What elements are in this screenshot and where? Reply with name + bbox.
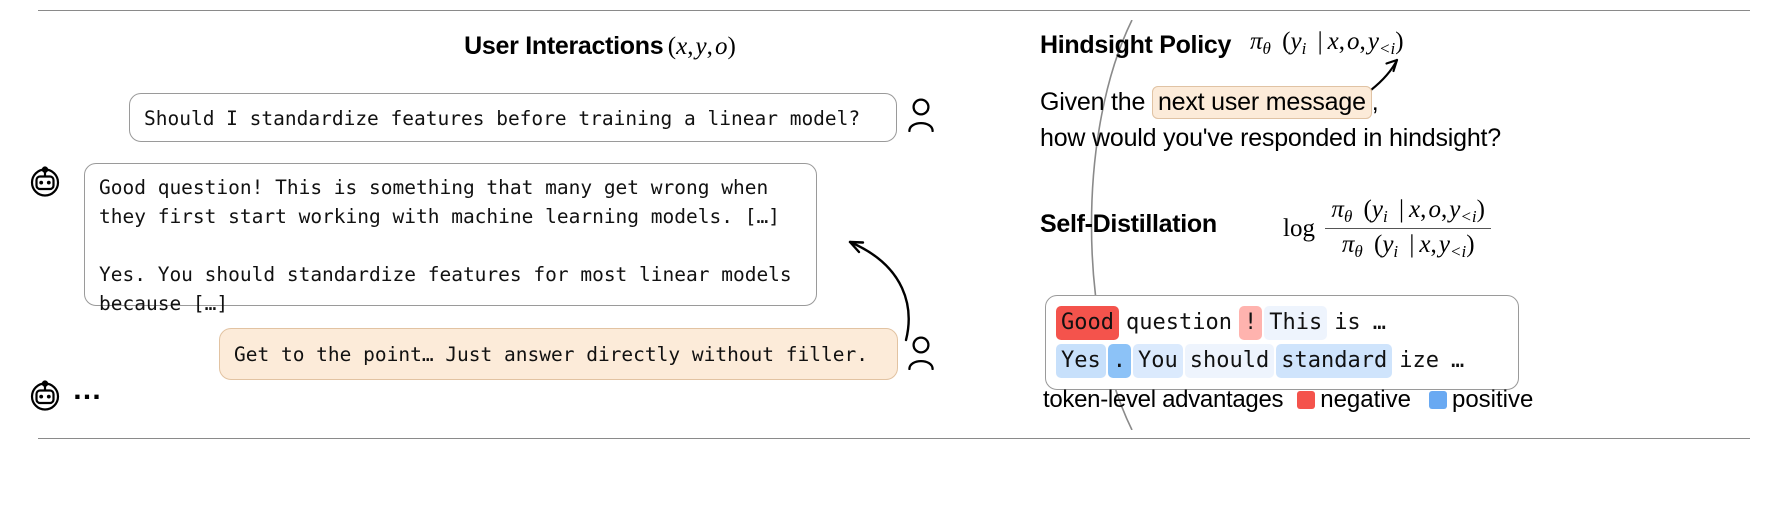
legend-label-negative: negative bbox=[1320, 386, 1411, 414]
token-row: Good question ! This is … bbox=[1056, 306, 1508, 340]
fraction-numerator: πθ (yi | x, o, y<i) bbox=[1325, 196, 1491, 229]
person-icon bbox=[906, 336, 936, 370]
legend: token-level advantages negative positive bbox=[1043, 386, 1551, 414]
legend-item-positive: positive bbox=[1429, 386, 1533, 414]
legend-swatch-positive bbox=[1429, 391, 1447, 409]
robot-icon bbox=[27, 163, 63, 199]
figure-root: User Interactions (x, y, o) Should I sta… bbox=[0, 0, 1786, 524]
assistant-pending-ellipsis: … bbox=[72, 373, 103, 407]
legend-title: token-level advantages bbox=[1043, 386, 1283, 414]
robot-icon bbox=[27, 377, 63, 413]
token: standard bbox=[1276, 344, 1392, 378]
chat-bubble-user-question: Should I standardize features before tra… bbox=[129, 93, 897, 142]
token: ize bbox=[1394, 344, 1444, 378]
token: … bbox=[1446, 344, 1469, 378]
chat-bubble-assistant-answer: Good question! This is something that ma… bbox=[84, 163, 817, 306]
panel-title-text: User Interactions bbox=[464, 32, 663, 60]
hindsight-link-arrow-icon bbox=[1365, 56, 1409, 92]
token-advantage-box: Good question ! This is … Yes . You shou… bbox=[1045, 295, 1519, 390]
panel-title-user-interactions: User Interactions (x, y, o) bbox=[300, 32, 900, 61]
token: should bbox=[1185, 344, 1274, 378]
token: … bbox=[1368, 306, 1391, 340]
token: Good bbox=[1056, 306, 1119, 340]
token: question bbox=[1121, 306, 1237, 340]
hindsight-prompt-line-2: how would you've responded in hindsight? bbox=[1040, 124, 1501, 153]
token: This bbox=[1264, 306, 1327, 340]
panel-title-math: (x, y, o) bbox=[668, 33, 736, 60]
legend-label-positive: positive bbox=[1452, 386, 1533, 414]
hindsight-policy-formula: πθ (yi | x, o, y<i) bbox=[1250, 28, 1404, 59]
self-distillation-heading: Self-Distillation bbox=[1040, 210, 1217, 239]
token: . bbox=[1108, 344, 1131, 378]
method-panel: Hindsight Policy πθ (yi | x, o, y<i) Giv… bbox=[1035, 0, 1786, 524]
token: Yes bbox=[1056, 344, 1106, 378]
prompt-text-comma: , bbox=[1372, 88, 1379, 116]
token: ! bbox=[1239, 306, 1262, 340]
self-distillation-formula: log πθ (yi | x, o, y<i) πθ (yi | x, y<i) bbox=[1283, 196, 1493, 262]
log-operator: log bbox=[1283, 215, 1315, 242]
token-row: Yes . You should standard ize … bbox=[1056, 344, 1508, 378]
feedback-arrow-icon bbox=[810, 228, 920, 343]
token: You bbox=[1133, 344, 1183, 378]
fraction-denominator: πθ (yi | x, y<i) bbox=[1325, 229, 1491, 262]
likelihood-ratio-fraction: πθ (yi | x, o, y<i) πθ (yi | x, y<i) bbox=[1325, 196, 1491, 262]
legend-swatch-negative bbox=[1297, 391, 1315, 409]
user-interactions-panel: User Interactions (x, y, o) Should I sta… bbox=[0, 0, 1060, 524]
person-icon bbox=[906, 98, 936, 132]
legend-item-negative: negative bbox=[1297, 386, 1411, 414]
hindsight-policy-heading: Hindsight Policy bbox=[1040, 31, 1231, 60]
prompt-highlight-next-user-message: next user message bbox=[1152, 86, 1372, 119]
prompt-text-prefix: Given the bbox=[1040, 88, 1145, 116]
hindsight-prompt-line-1: Given the next user message, bbox=[1040, 88, 1379, 117]
chat-bubble-user-followup: Get to the point… Just answer directly w… bbox=[219, 328, 898, 380]
token: is bbox=[1329, 306, 1366, 340]
